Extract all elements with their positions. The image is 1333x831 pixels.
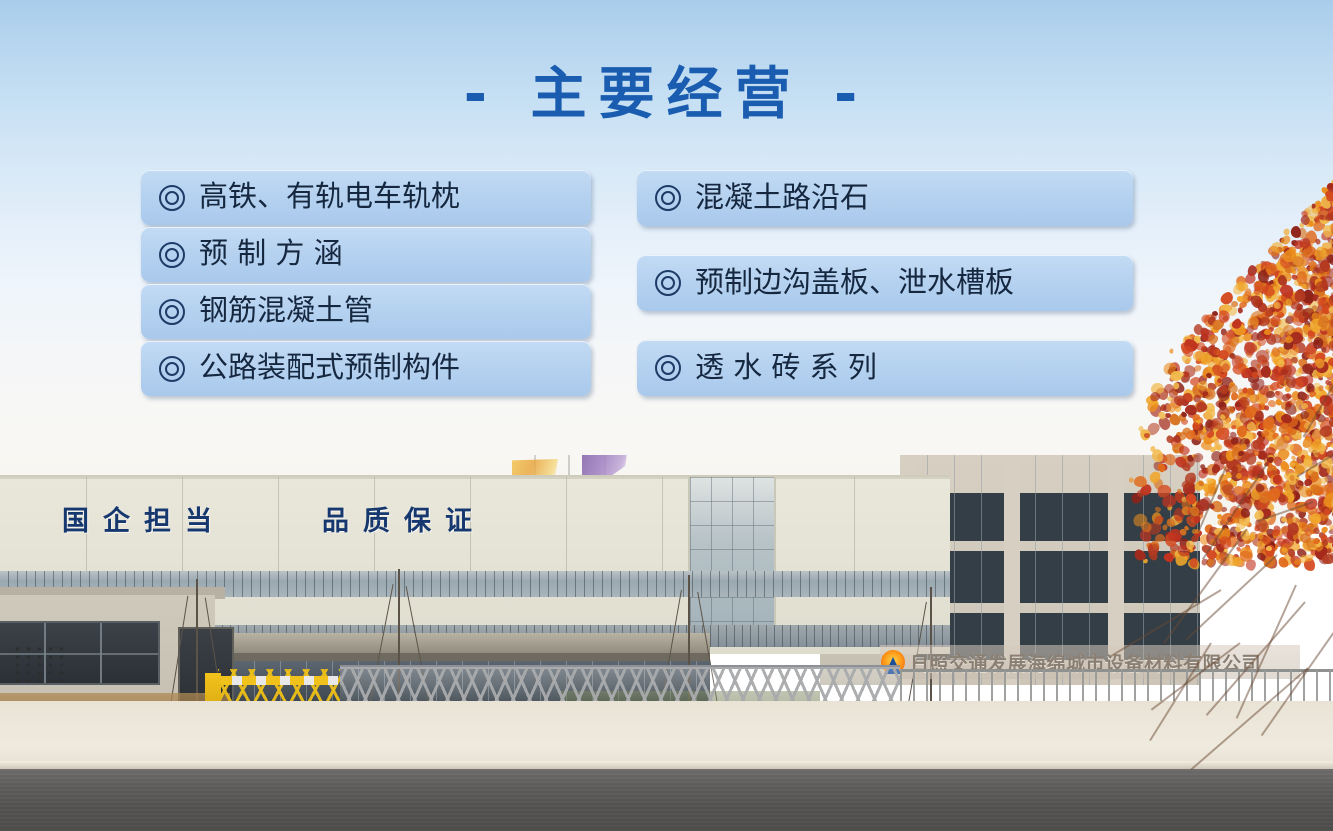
double-circle-icon [159, 185, 185, 211]
factory-sign-right: 品质保证 [322, 499, 486, 538]
double-circle-icon [159, 299, 185, 325]
double-circle-icon [655, 185, 681, 211]
factory-sign-left: 国企担当 [62, 499, 226, 538]
road-curb [0, 761, 1333, 769]
double-circle-icon [655, 270, 681, 296]
list-item-label: 混凝土路沿石 [695, 183, 869, 214]
list-item[interactable]: 透 水 砖 系 列 [637, 340, 1133, 396]
asphalt-road [0, 769, 1333, 831]
list-item[interactable]: 公路装配式预制构件 [141, 341, 591, 396]
double-circle-icon [655, 355, 681, 381]
factory-photo: 国企担当 品质保证 日照交通发展海绵城市设备材料有限公司 [0, 455, 1333, 831]
list-item[interactable]: 高铁、有轨电车轨枕 [141, 170, 591, 225]
list-item-label: 预 制 方 涵 [199, 239, 343, 270]
boom-barrier-arm[interactable] [218, 676, 338, 685]
double-circle-icon [159, 356, 185, 382]
entrance-canopy-fascia [150, 653, 710, 661]
poster-canvas: - 主要经营 - 高铁、有轨电车轨枕 预 制 方 涵 钢筋混凝土管 公路装配式预… [0, 0, 1333, 831]
list-item-label: 预制边沟盖板、泄水槽板 [695, 268, 1014, 299]
list-item-label: 钢筋混凝土管 [199, 296, 373, 327]
list-item-label: 透 水 砖 系 列 [695, 353, 877, 384]
list-item[interactable]: 预制边沟盖板、泄水槽板 [637, 255, 1133, 311]
list-item-label: 公路装配式预制构件 [199, 353, 460, 384]
double-circle-icon [159, 242, 185, 268]
entrance-canopy [150, 633, 710, 655]
factory-stair-tower [688, 477, 776, 647]
list-item[interactable]: 钢筋混凝土管 [141, 284, 591, 339]
service-list-right: 混凝土路沿石 预制边沟盖板、泄水槽板 透 水 砖 系 列 [637, 170, 1133, 396]
list-item-label: 高铁、有轨电车轨枕 [199, 182, 460, 213]
service-list-left: 高铁、有轨电车轨枕 预 制 方 涵 钢筋混凝土管 公路装配式预制构件 [141, 170, 591, 398]
list-item[interactable]: 预 制 方 涵 [141, 227, 591, 282]
vent-grille-icon [12, 645, 66, 683]
concrete-pavement [0, 701, 1333, 767]
list-item[interactable]: 混凝土路沿石 [637, 170, 1133, 226]
